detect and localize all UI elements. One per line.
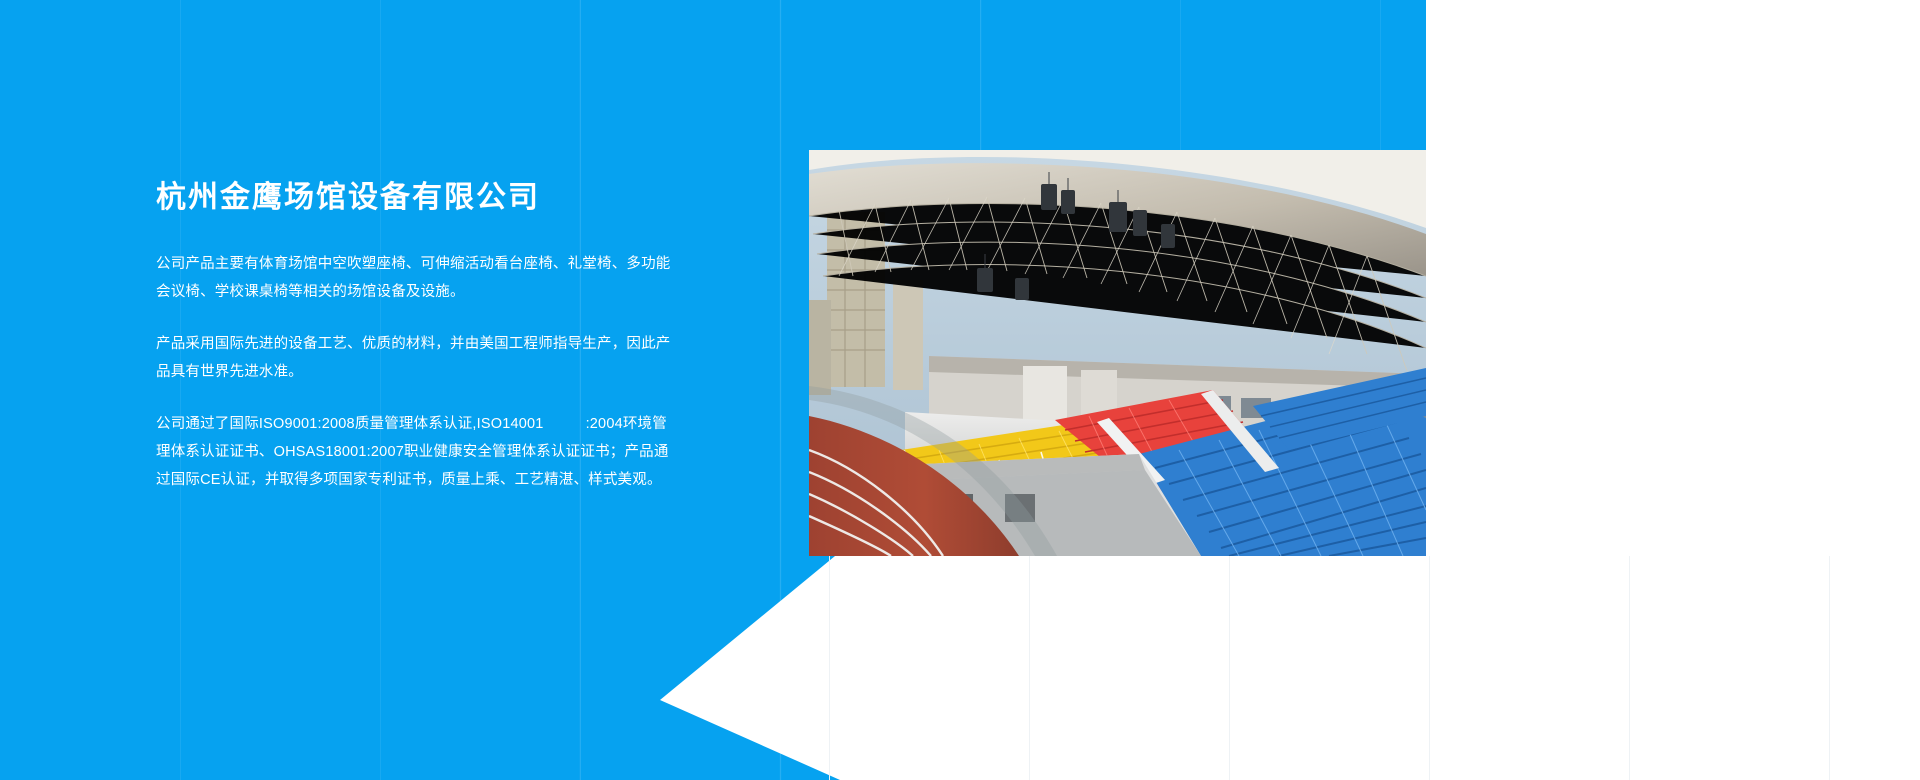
white-grid-line xyxy=(1829,556,1830,780)
hero-text-column: 杭州金鹰场馆设备有限公司 公司产品主要有体育场馆中空吹塑座椅、可伸缩活动看台座椅… xyxy=(156,180,676,494)
hero-banner: 杭州金鹰场馆设备有限公司 公司产品主要有体育场馆中空吹塑座椅、可伸缩活动看台座椅… xyxy=(0,0,1920,780)
white-grid-line xyxy=(1029,556,1030,780)
white-grid-line xyxy=(1229,556,1230,780)
intro-paragraph-products: 公司产品主要有体育场馆中空吹塑座椅、可伸缩活动看台座椅、礼堂椅、多功能会议椅、学… xyxy=(156,250,676,306)
white-grid-line xyxy=(829,556,830,780)
white-grid-line xyxy=(1629,556,1630,780)
intro-paragraph-certifications: 公司通过了国际ISO9001:2008质量管理体系认证,ISO14001:200… xyxy=(156,410,676,494)
stadium-photo-artwork xyxy=(809,150,1426,556)
stadium-grandstand-photo xyxy=(809,150,1426,556)
intro-paragraph-quality: 产品采用国际先进的设备工艺、优质的材料，并由美国工程师指导生产，因此产品具有世界… xyxy=(156,330,676,386)
white-grid-line xyxy=(1429,556,1430,780)
certification-text-part-1: 公司通过了国际ISO9001:2008质量管理体系认证,ISO14001 xyxy=(156,416,544,432)
page-title: 杭州金鹰场馆设备有限公司 xyxy=(156,180,676,216)
